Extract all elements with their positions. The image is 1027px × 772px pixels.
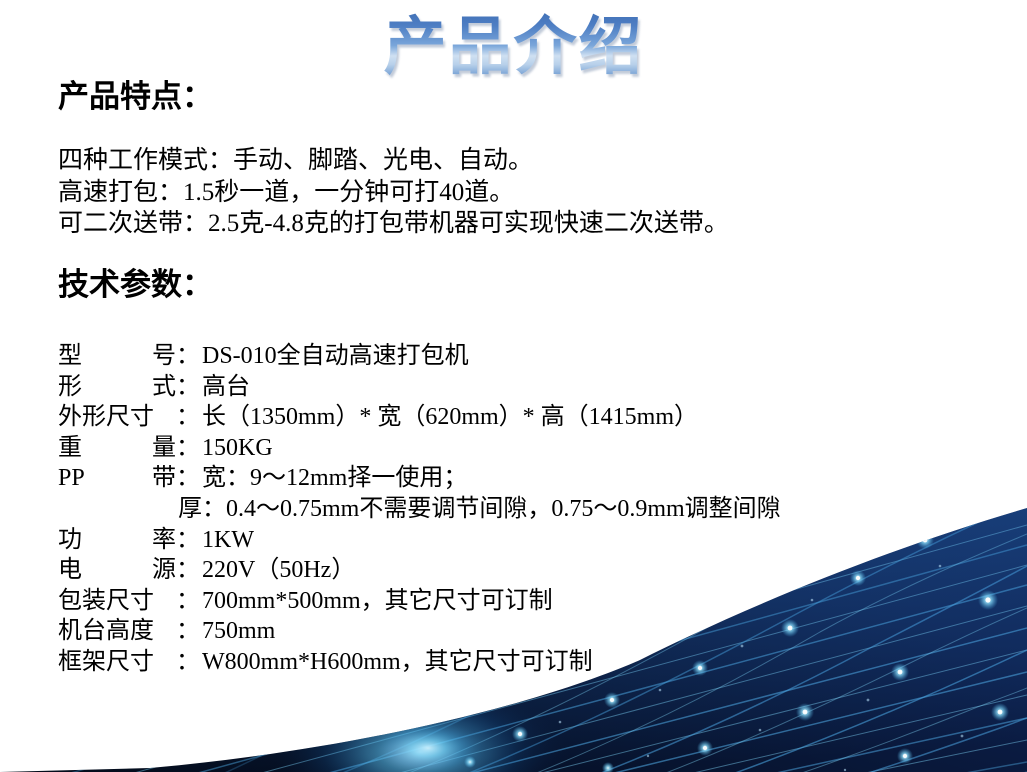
spec-colon: ： <box>176 555 202 586</box>
spec-label-part: 重 <box>58 433 82 464</box>
specs-table: 型 号 ： DS-010全自动高速打包机 形 式 ： 高台 外形尺寸 ： 长（1… <box>58 341 781 678</box>
spec-colon: ： <box>176 463 202 494</box>
spec-value: 长（1350mm）* 宽（620mm）* 高（1415mm） <box>202 402 698 433</box>
spec-label: 机台高度 <box>58 616 176 647</box>
spec-colon: ： <box>176 372 202 403</box>
spec-value: 750mm <box>202 616 275 647</box>
features-heading: 产品特点： <box>58 80 213 114</box>
spec-row: 形 式 ： 高台 <box>58 372 781 403</box>
feature-line: 可二次送带：2.5克-4.8克的打包带机器可实现快速二次送带。 <box>58 208 729 240</box>
spec-row: 电 源 ： 220V（50Hz） <box>58 555 781 586</box>
spec-label-part: 型 <box>58 341 82 372</box>
page-title: 产品介绍 <box>0 10 1027 84</box>
spec-row: 功 率 ： 1KW <box>58 525 781 556</box>
spec-row: 型 号 ： DS-010全自动高速打包机 <box>58 341 781 372</box>
spec-label-part: 功 <box>58 525 82 556</box>
spec-label: 框架尺寸 <box>58 647 176 678</box>
spec-row: 机台高度 ： 750mm <box>58 616 781 647</box>
spec-label: PP 带 <box>58 463 176 494</box>
spec-value: 150KG <box>202 433 273 464</box>
spec-label-part: PP <box>58 463 85 494</box>
spec-row: 外形尺寸 ： 长（1350mm）* 宽（620mm）* 高（1415mm） <box>58 402 781 433</box>
spec-row: 框架尺寸 ： W800mm*H600mm，其它尺寸可订制 <box>58 647 781 678</box>
features-list: 四种工作模式：手动、脚踏、光电、自动。 高速打包：1.5秒一道，一分钟可打40道… <box>58 145 729 240</box>
feature-line: 四种工作模式：手动、脚踏、光电、自动。 <box>58 145 729 177</box>
spec-label: 外形尺寸 <box>58 402 176 433</box>
spec-label-part: 包装尺寸 <box>58 586 154 617</box>
slide-canvas: 产品介绍 产品特点： 四种工作模式：手动、脚踏、光电、自动。 高速打包：1.5秒… <box>0 0 1027 772</box>
spec-label-part: 式 <box>152 372 176 403</box>
spec-label-part: 形 <box>58 372 82 403</box>
spec-label: 包装尺寸 <box>58 586 176 617</box>
spec-label-part: 号 <box>152 341 176 372</box>
spec-label-part: 源 <box>152 555 176 586</box>
spec-label-part: 框架尺寸 <box>58 647 154 678</box>
spec-value: 700mm*500mm，其它尺寸可订制 <box>202 586 553 617</box>
spec-colon: ： <box>176 616 202 647</box>
spec-colon: ： <box>176 433 202 464</box>
spec-label-part: 量 <box>152 433 176 464</box>
spec-value: 厚：0.4～0.75mm不需要调节间隙，0.75～0.9mm调整间隙 <box>178 494 781 525</box>
spec-row: PP 带 ： 宽：9～12mm择一使用； <box>58 463 781 494</box>
spec-label: 型 号 <box>58 341 176 372</box>
spec-value: W800mm*H600mm，其它尺寸可订制 <box>202 647 593 678</box>
spec-label-part: 电 <box>58 555 82 586</box>
spec-row-continuation: 厚：0.4～0.75mm不需要调节间隙，0.75～0.9mm调整间隙 <box>58 494 781 525</box>
spec-label: 重 量 <box>58 433 176 464</box>
spec-colon: ： <box>176 341 202 372</box>
spec-label: 形 式 <box>58 372 176 403</box>
spec-row: 包装尺寸 ： 700mm*500mm，其它尺寸可订制 <box>58 586 781 617</box>
spec-value: 220V（50Hz） <box>202 555 355 586</box>
spec-colon: ： <box>176 586 202 617</box>
spec-value: 1KW <box>202 525 254 556</box>
spec-value: 宽：9～12mm择一使用； <box>202 463 467 494</box>
spec-label: 电 源 <box>58 555 176 586</box>
spec-label-part: 外形尺寸 <box>58 402 154 433</box>
spec-label-part: 机台高度 <box>58 616 154 647</box>
spec-label-part: 率 <box>152 525 176 556</box>
spec-colon: ： <box>176 402 202 433</box>
spec-value: 高台 <box>202 372 250 403</box>
spec-label: 功 率 <box>58 525 176 556</box>
spec-label-part: 带 <box>152 463 176 494</box>
feature-line: 高速打包：1.5秒一道，一分钟可打40道。 <box>58 177 729 209</box>
spec-colon: ： <box>176 647 202 678</box>
spec-colon: ： <box>176 525 202 556</box>
spec-row: 重 量 ： 150KG <box>58 433 781 464</box>
spec-value: DS-010全自动高速打包机 <box>202 341 469 372</box>
specs-heading: 技术参数： <box>58 268 213 302</box>
